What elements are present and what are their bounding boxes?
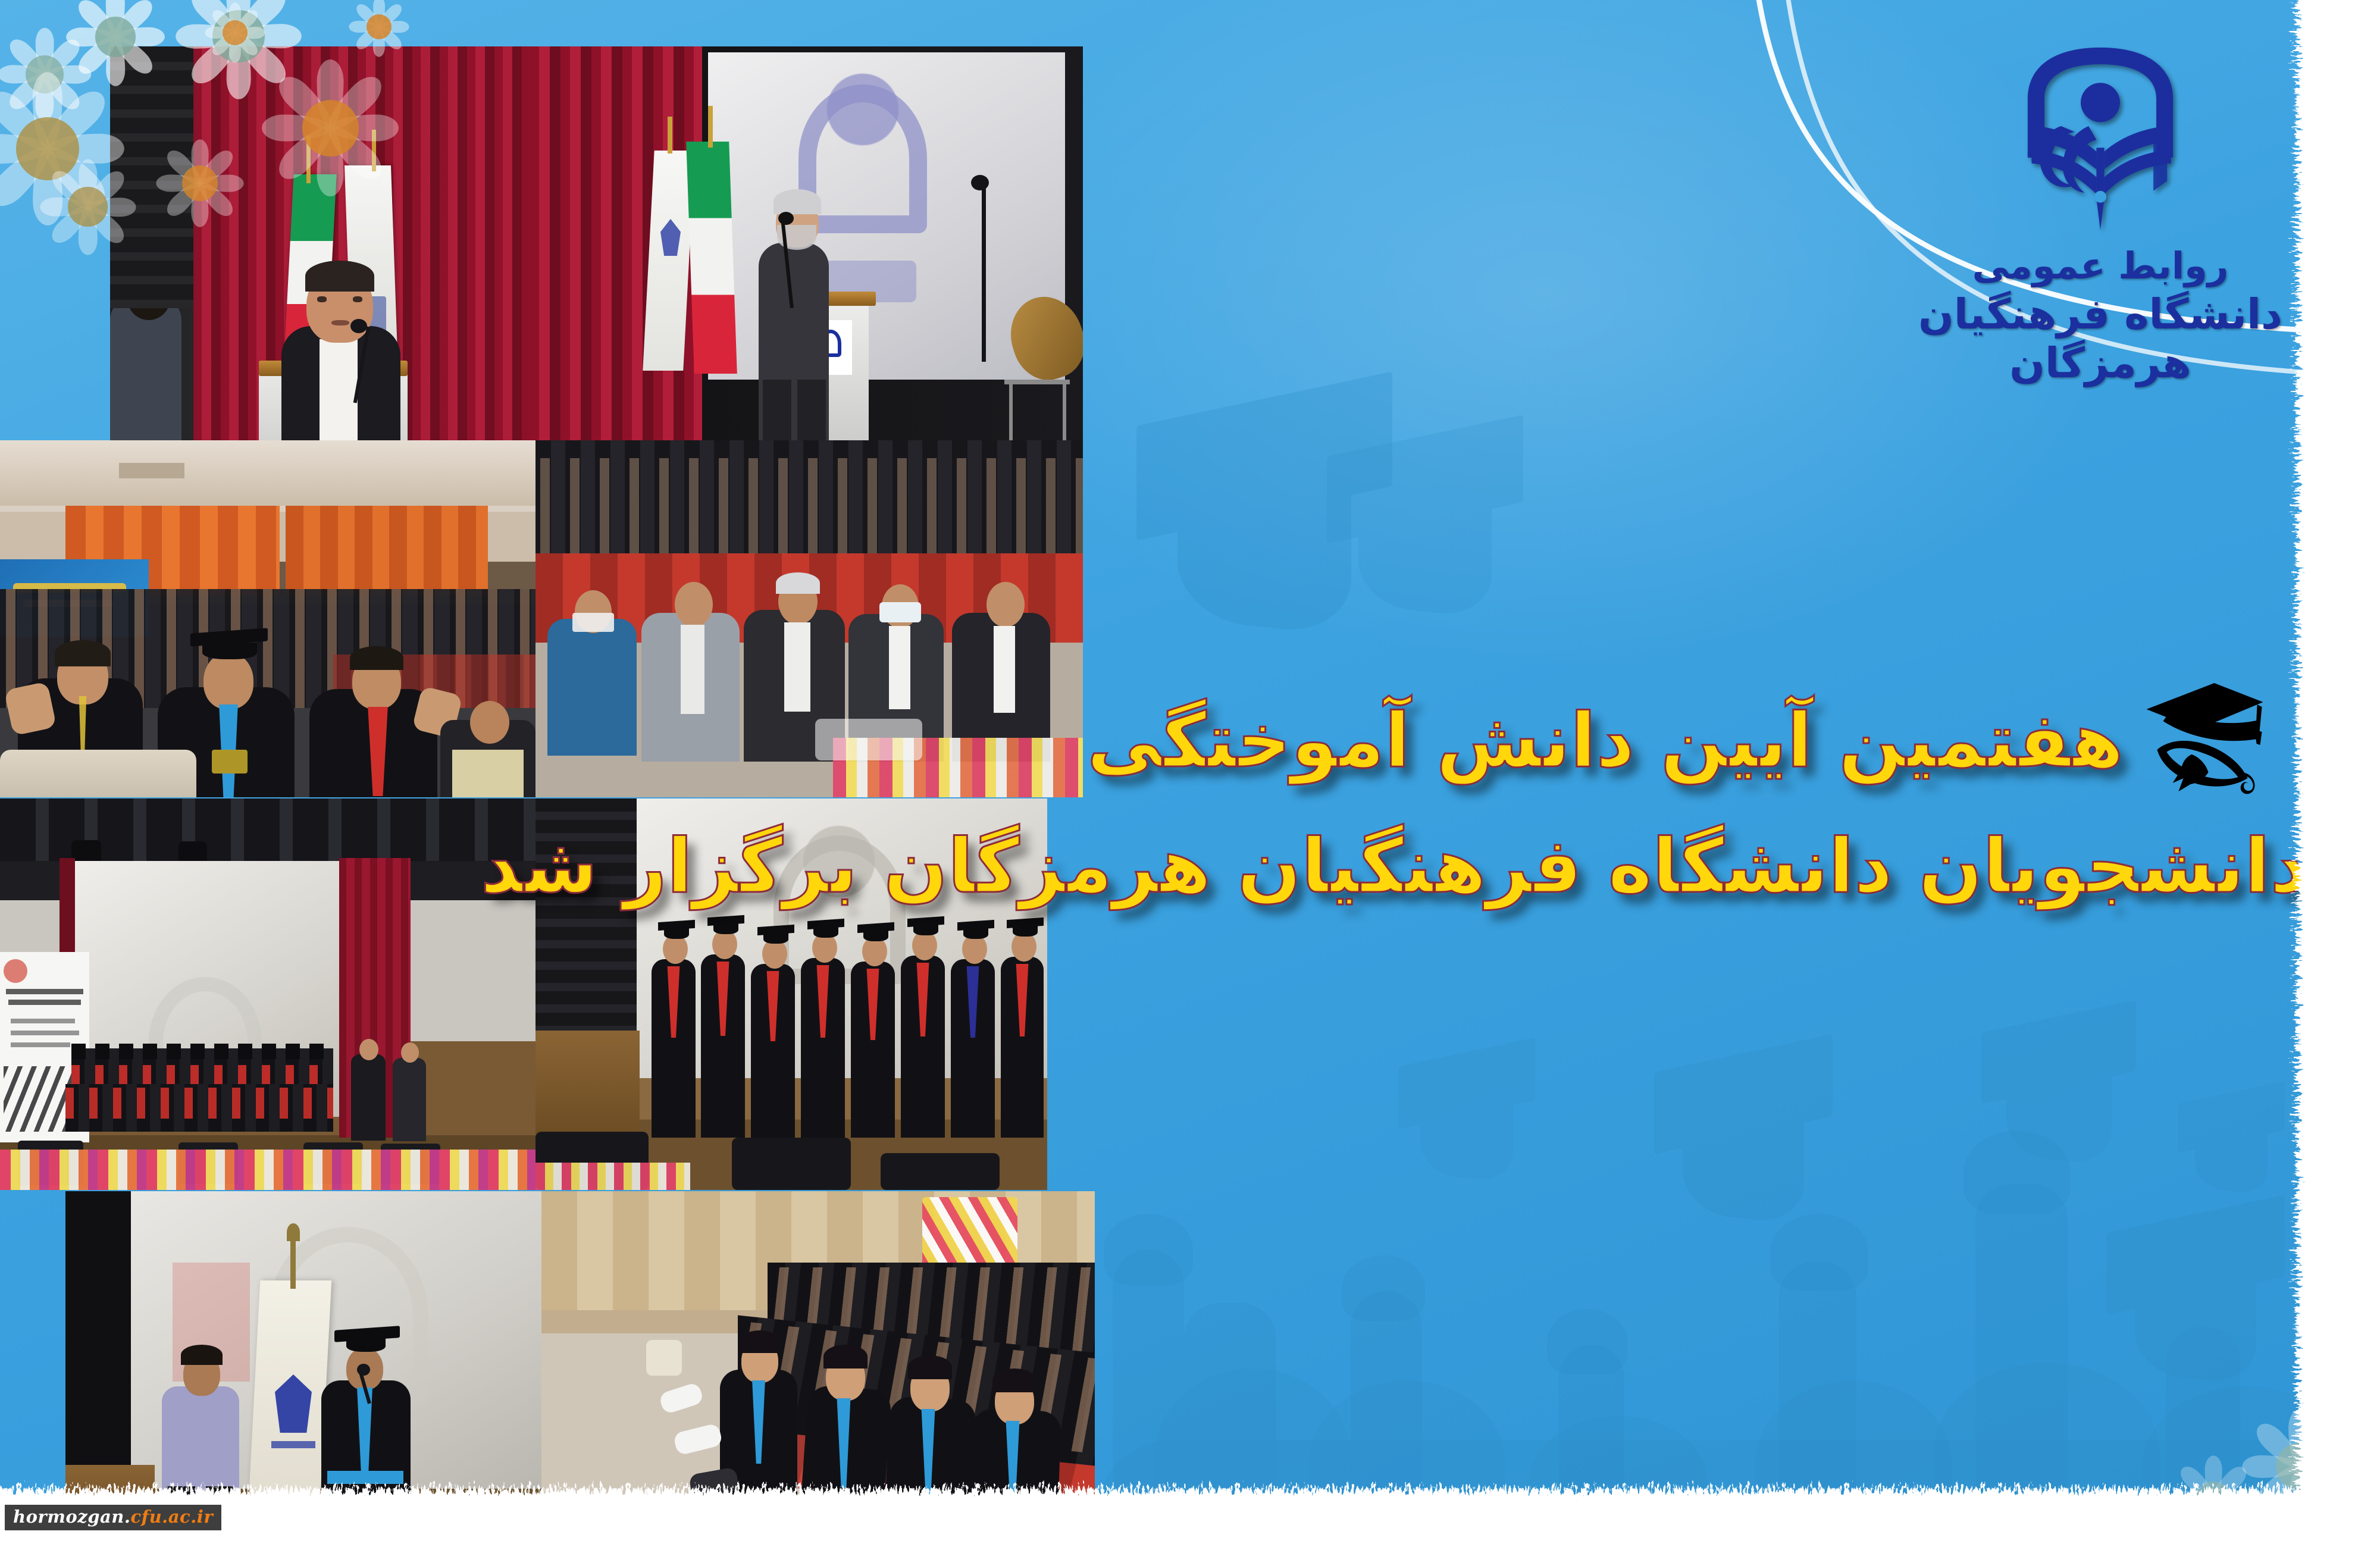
headline-block: هفتمین آیین دانش آموختگی دانشجویان دانشگ… <box>660 678 2267 910</box>
photo-grey-haired-speaker-projector <box>530 46 1083 457</box>
watermark-tld: cfu.ac.ir <box>130 1507 213 1527</box>
photo-graduates-standing-audience-hall <box>0 440 535 797</box>
headline-line-1: هفتمین آیین دانش آموختگی <box>1087 698 2124 784</box>
watermark-domain: hormozgan. <box>13 1507 130 1527</box>
poster-canvas: روابط عمومی دانشگاه فرهنگیان هرمزگان <box>0 0 2380 1547</box>
photo-stage-group-red-sashes-banner <box>0 798 535 1190</box>
graduation-cap-diploma-icon <box>2139 678 2267 797</box>
logo-line-public-relations: روابط عمومی <box>1910 244 2291 287</box>
logo-line-university-name: دانشگاه فرهنگیان هرمزگان <box>1910 290 2291 387</box>
photo-speaker-at-podium-red-curtain <box>110 46 530 457</box>
cfu-university-book-arch-logo-icon <box>2002 42 2199 238</box>
headline-line-2: دانشجویان دانشگاه فرهنگیان هرمزگان برگزا… <box>660 823 2309 910</box>
photo-graduate-speaking-with-flag <box>65 1191 541 1547</box>
photo-seated-female-graduates-blue-sashes <box>541 1191 1095 1547</box>
public-relations-logo-block: روابط عمومی دانشگاه فرهنگیان هرمزگان <box>1910 42 2291 387</box>
site-watermark: hormozgan.cfu.ac.ir <box>5 1505 221 1530</box>
